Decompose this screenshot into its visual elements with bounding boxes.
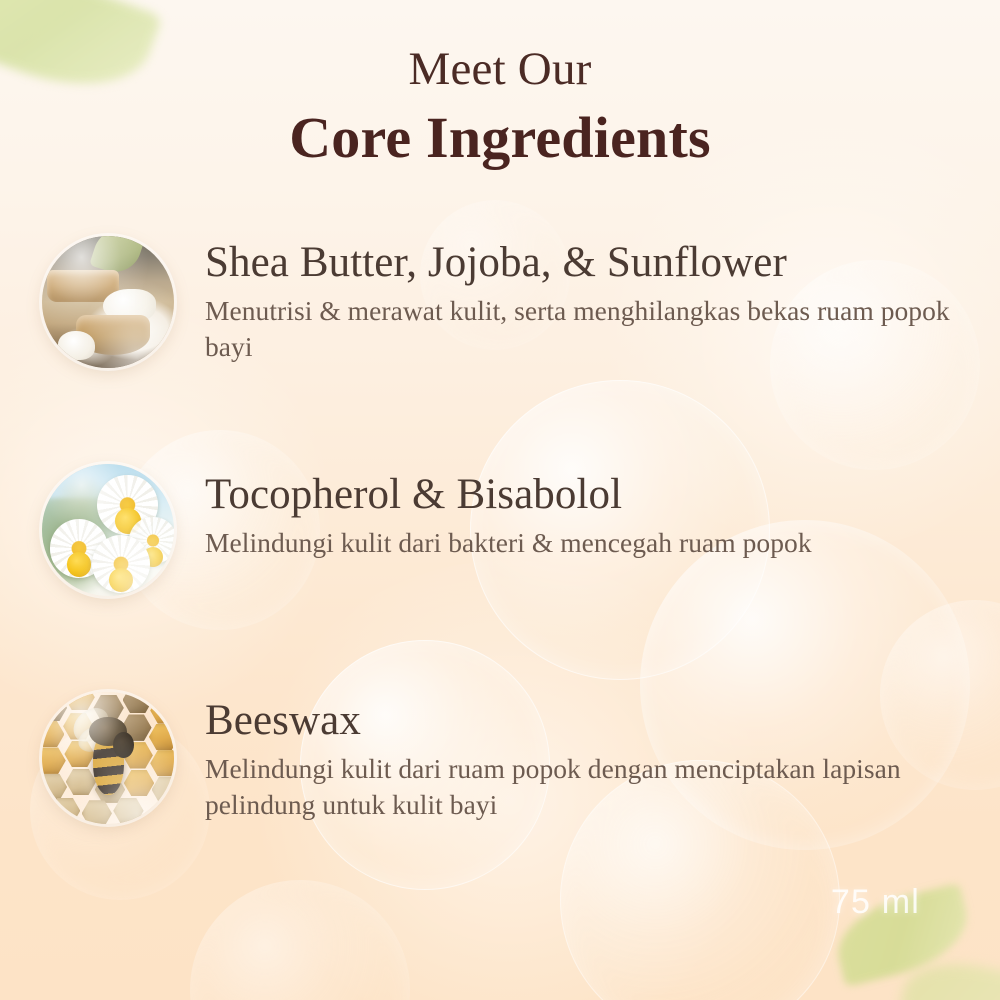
ingredient-description: Melindungi kulit dari ruam popok dengan …: [205, 751, 975, 824]
leaf-decoration-bottom-right-secondary: [899, 952, 1000, 1000]
product-volume-label: 75 ml: [831, 883, 920, 922]
ingredient-title: Tocopherol & Bisabolol: [205, 472, 980, 518]
ingredient-description: Menutrisi & merawat kulit, serta menghil…: [205, 293, 975, 366]
ingredient-description: Melindungi kulit dari bakteri & mencegah…: [205, 525, 975, 561]
bee-honeycomb-image: [42, 692, 174, 824]
shea-butter-bowl-image: [42, 236, 174, 368]
ingredient-title: Shea Butter, Jojoba, & Sunflower: [205, 240, 980, 286]
bubble-gloss-overlay: [42, 464, 174, 596]
bubble-gloss-overlay: [42, 236, 174, 368]
page-header: Meet Our Core Ingredients: [0, 0, 1000, 167]
ingredients-infographic: Meet Our Core Ingredients Shea Butter, J…: [0, 0, 1000, 1000]
chamomile-flower-image: [42, 464, 174, 596]
header-eyebrow: Meet Our: [0, 46, 1000, 93]
bubble-gloss-overlay: [42, 692, 174, 824]
ingredient-title: Beeswax: [205, 698, 980, 744]
page-title: Core Ingredients: [0, 109, 1000, 167]
